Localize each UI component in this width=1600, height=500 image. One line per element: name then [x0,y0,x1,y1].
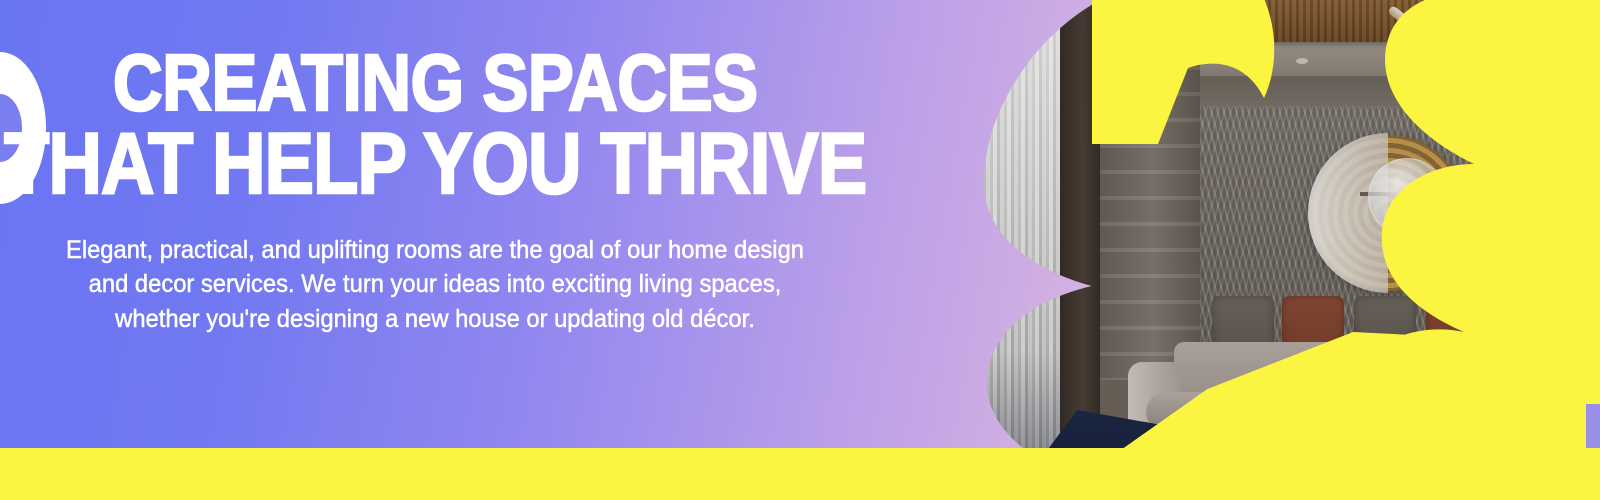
hero-text-column: CREATING SPACES THAT HELP YOU THRIVE Ele… [0,0,870,448]
yellow-footer-bar [0,448,1600,500]
headline-line-2: THAT HELP YOU THRIVE [4,122,866,206]
page-title: CREATING SPACES THAT HELP YOU THRIVE [4,44,866,207]
headline-line-1: CREATING SPACES [4,44,866,122]
hero-banner: CREATING SPACES THAT HELP YOU THRIVE Ele… [0,0,1600,500]
hero-subcopy: Elegant, practical, and uplifting rooms … [55,233,815,337]
downlight-icon [1296,58,1308,64]
